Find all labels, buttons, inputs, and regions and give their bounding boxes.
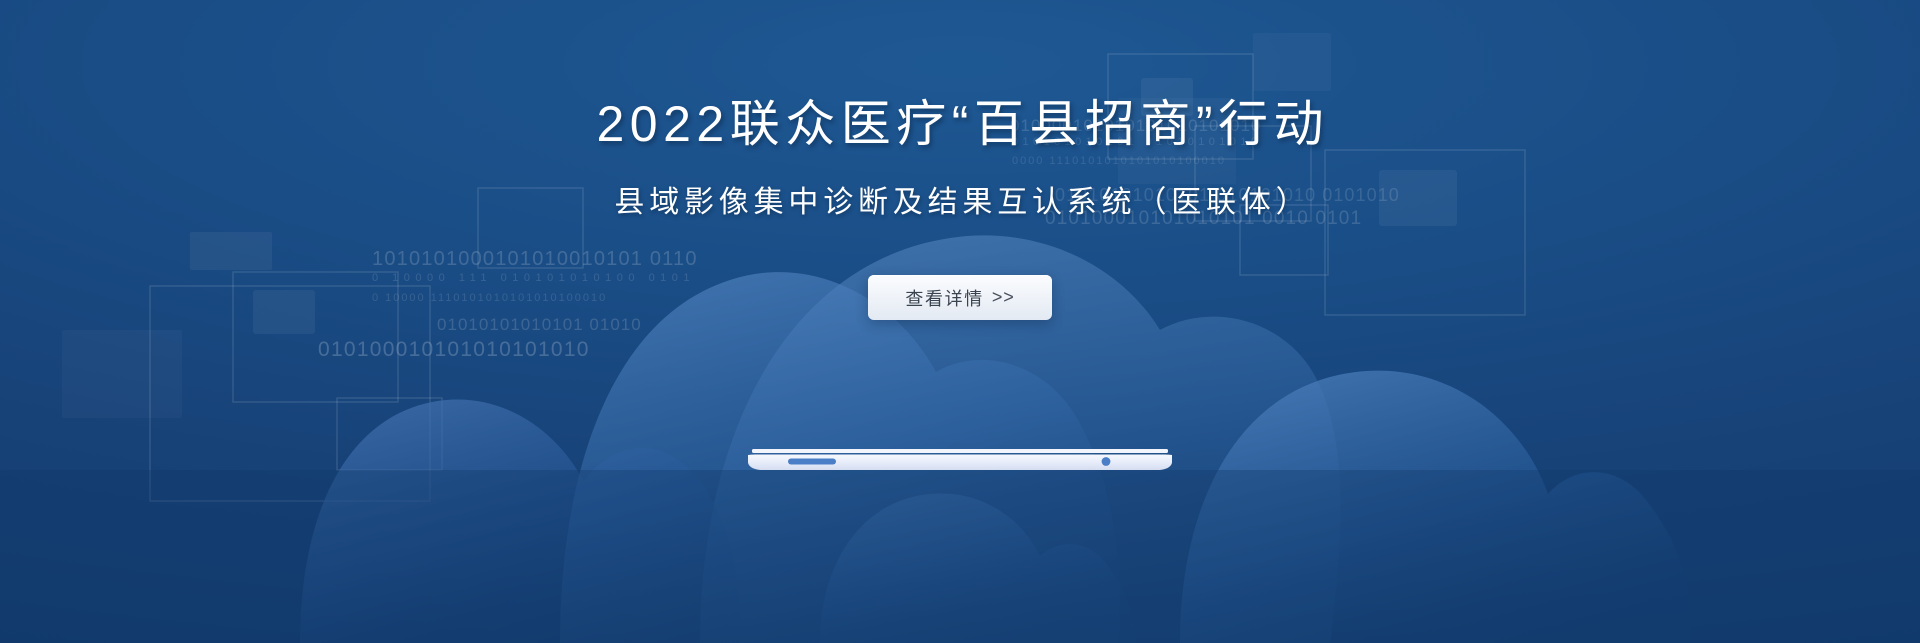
view-details-label: 查看详情 bbox=[905, 285, 983, 311]
banner-content: 2022联众医疗“百县招商”行动 县域影像集中诊断及结果互认系统（医联体） 查看… bbox=[0, 0, 1920, 643]
promo-banner: 1010101000101010010101 0110 0 10000 111 … bbox=[0, 0, 1920, 643]
view-details-button[interactable]: 查看详情 >> bbox=[868, 275, 1052, 320]
page-subtitle: 县域影像集中诊断及结果互认系统（医联体） bbox=[610, 188, 1311, 218]
page-title: 2022联众医疗“百县招商”行动 bbox=[591, 99, 1329, 149]
chevron-right-double-icon: >> bbox=[992, 287, 1015, 308]
